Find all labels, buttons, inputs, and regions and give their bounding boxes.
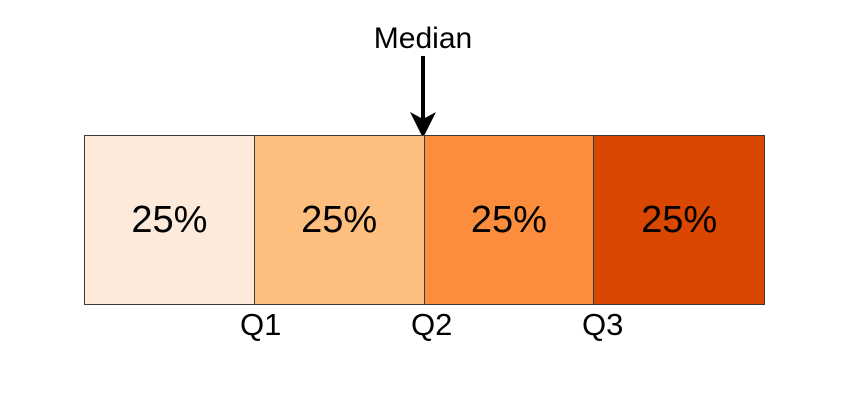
segment-q1-q2: 25% (255, 136, 425, 304)
segment-q0-q1: 25% (85, 136, 255, 304)
arrow-down-icon (400, 56, 446, 138)
segment-q3-q4-label: 25% (641, 200, 717, 240)
segment-q2-q3-label: 25% (471, 200, 547, 240)
tick-label-q1: Q1 (240, 308, 281, 342)
quartile-bar: 25% 25% 25% 25% (84, 135, 765, 305)
tick-label-q2: Q2 (411, 308, 452, 342)
segment-q1-q2-label: 25% (301, 200, 377, 240)
quartile-distribution-figure: Median 25% 25% 25% 25% Q1 Q2 Q3 (0, 0, 865, 403)
segment-q0-q1-label: 25% (131, 200, 207, 240)
median-annotation-label: Median (374, 22, 472, 56)
segment-q3-q4: 25% (594, 136, 764, 304)
tick-label-q3: Q3 (582, 308, 623, 342)
segment-q2-q3: 25% (425, 136, 595, 304)
